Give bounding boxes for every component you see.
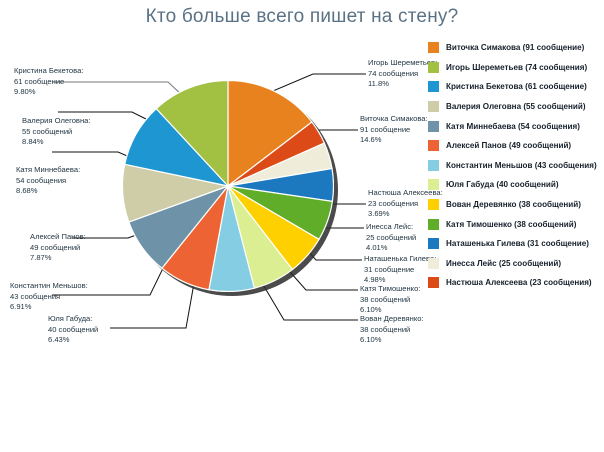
page-title: Кто больше всего пишет на стену? xyxy=(0,6,604,28)
legend-swatch-icon xyxy=(428,42,439,53)
legend-item[interactable]: Катя Миннебаева (54 сообщения) xyxy=(428,116,604,136)
legend-swatch-icon xyxy=(428,121,439,132)
callout-igor: Игорь Шереметьев: 74 сообщения 11.8% xyxy=(368,58,437,90)
legend-item[interactable]: Константин Меньшов (43 сообщения) xyxy=(428,156,604,176)
legend-swatch-icon xyxy=(428,238,439,249)
legend-item[interactable]: Вован Деревянко (38 сообщений) xyxy=(428,195,604,215)
callout-valeria: Валерия Олеговна: 55 сообщений 8.84% xyxy=(22,116,91,148)
legend-item[interactable]: Валерия Олеговна (55 сообщений) xyxy=(428,97,604,117)
legend-item[interactable]: Юля Габуда (40 сообщений) xyxy=(428,175,604,195)
legend-swatch-icon xyxy=(428,81,439,92)
legend-swatch-icon xyxy=(428,160,439,171)
legend-swatch-icon xyxy=(428,258,439,269)
pie-canvas[interactable] xyxy=(122,80,334,292)
callout-konstantin: Константин Меньшов: 43 сообщения 6.91% xyxy=(10,281,88,313)
legend-swatch-icon xyxy=(428,199,439,210)
callout-vovan: Вован Деревянко: 38 сообщений 6.10% xyxy=(360,314,424,346)
callout-aleksey: Алексей Панов: 49 сообщений 7.87% xyxy=(30,232,86,264)
legend-item[interactable]: Алексей Панов (49 сообщений) xyxy=(428,136,604,156)
callout-natashenka: Наташенька Гилева: 31 сообщение 4.98% xyxy=(364,254,436,286)
callout-katya-timoshenko: Катя Тимошенко: 38 сообщений 6.10% xyxy=(360,284,420,316)
legend-swatch-icon xyxy=(428,140,439,151)
legend-item[interactable]: Инесса Лейс (25 сообщений) xyxy=(428,254,604,274)
pie-chart xyxy=(120,78,344,302)
legend: Виточка Симакова (91 сообщение) Игорь Ше… xyxy=(428,38,604,293)
legend-swatch-icon xyxy=(428,277,439,288)
legend-item[interactable]: Виточка Симакова (91 сообщение) xyxy=(428,38,604,58)
legend-item[interactable]: Настюша Алексеева (23 сообщения) xyxy=(428,273,604,293)
legend-item[interactable]: Наташенька Гилева (31 сообщение) xyxy=(428,234,604,254)
legend-item[interactable]: Игорь Шереметьев (74 сообщения) xyxy=(428,58,604,78)
legend-swatch-icon xyxy=(428,219,439,230)
legend-swatch-icon xyxy=(428,101,439,112)
legend-item[interactable]: Кристина Бекетова (61 сообщение) xyxy=(428,77,604,97)
callout-yulia: Юля Габуда: 40 сообщений 6.43% xyxy=(48,314,98,346)
legend-swatch-icon xyxy=(428,62,439,73)
callout-inessa: Инесса Лейс: 25 сообщений 4.01% xyxy=(366,222,416,254)
callout-kristina: Кристина Бекетова: 61 сообщение 9.80% xyxy=(14,66,83,98)
callout-vitochka: Виточка Симакова: 91 сообщение 14.6% xyxy=(360,114,428,146)
legend-item[interactable]: Катя Тимошенко (38 сообщений) xyxy=(428,214,604,234)
callout-katya-minnebaeva: Катя Миннебаева: 54 сообщения 8.68% xyxy=(16,165,80,197)
legend-swatch-icon xyxy=(428,179,439,190)
